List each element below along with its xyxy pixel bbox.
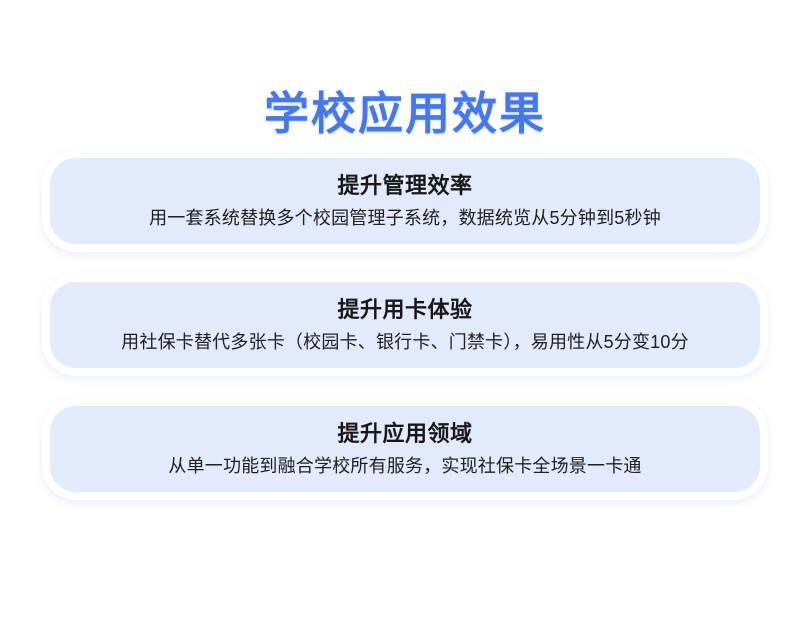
benefit-card-heading: 提升应用领域 bbox=[337, 419, 472, 449]
benefit-card-body: 用一套系统替换多个校园管理子系统，数据统览从5分钟到5秒钟 bbox=[149, 205, 661, 231]
benefit-card-body: 从单一功能到融合学校所有服务，实现社保卡全场景一卡通 bbox=[168, 453, 641, 479]
benefit-card-1: 提升管理效率 用一套系统替换多个校园管理子系统，数据统览从5分钟到5秒钟 bbox=[42, 150, 768, 252]
page-title: 学校应用效果 bbox=[264, 87, 546, 141]
benefit-card-list: 提升管理效率 用一套系统替换多个校园管理子系统，数据统览从5分钟到5秒钟 提升用… bbox=[42, 150, 768, 500]
benefit-card-3: 提升应用领域 从单一功能到融合学校所有服务，实现社保卡全场景一卡通 bbox=[42, 398, 768, 500]
benefit-card-2: 提升用卡体验 用社保卡替代多张卡（校园卡、银行卡、门禁卡），易用性从5分变10分 bbox=[42, 274, 768, 376]
benefit-card-body: 用社保卡替代多张卡（校园卡、银行卡、门禁卡），易用性从5分变10分 bbox=[121, 329, 689, 355]
benefit-card-heading: 提升管理效率 bbox=[337, 171, 472, 201]
slide-root: 学校应用效果 提升管理效率 用一套系统替换多个校园管理子系统，数据统览从5分钟到… bbox=[0, 0, 810, 622]
benefit-card-heading: 提升用卡体验 bbox=[337, 295, 472, 325]
